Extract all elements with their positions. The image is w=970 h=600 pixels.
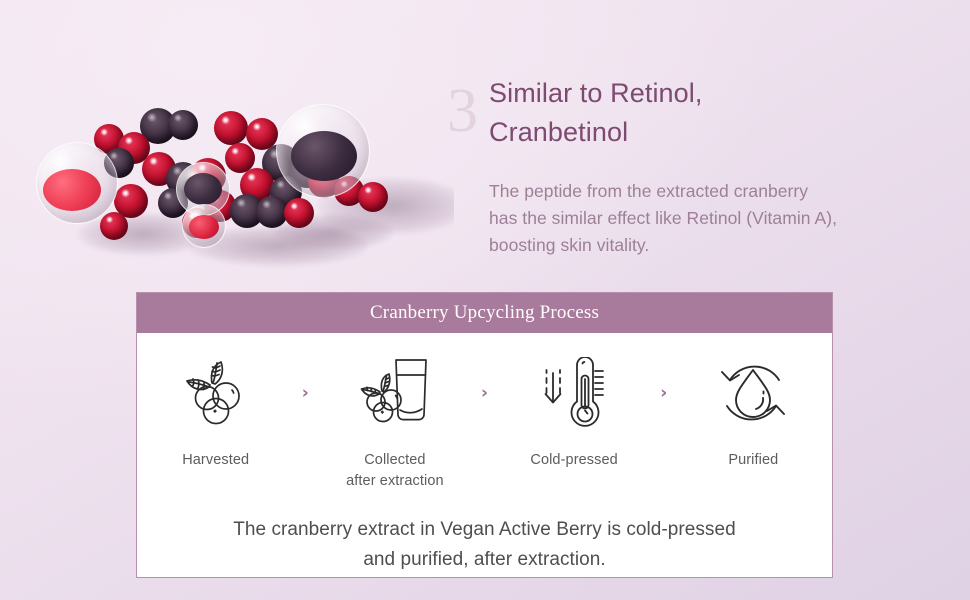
process-step-label: Collected after extraction: [346, 450, 444, 491]
glass-sphere: [36, 142, 118, 224]
process-steps: Harvested ›: [137, 333, 832, 491]
label-line-1: Purified: [728, 450, 778, 471]
glass-fill-dark: [184, 173, 222, 205]
berry: [100, 212, 128, 240]
promo-banner: 3 Similar to Retinol, Cranbetinol The pe…: [0, 0, 970, 600]
hero-description: The peptide from the extracted cranberry…: [489, 178, 941, 259]
description-line-3: boosting skin vitality.: [489, 232, 941, 259]
glass-sphere: [182, 204, 226, 248]
berries-leaves-icon: [180, 355, 252, 431]
caption-line-1: The cranberry extract in Vegan Active Be…: [177, 515, 792, 544]
headline-line-2: Cranbetinol: [489, 113, 939, 152]
glass-sphere: [276, 104, 370, 198]
berry: [284, 198, 314, 228]
process-step-label: Purified: [728, 450, 778, 471]
glass-fill-red: [43, 169, 101, 211]
berries-glass-icon: [358, 355, 432, 431]
cranberry-photo: [18, 48, 454, 290]
berry: [214, 111, 248, 145]
label-line-2: after extraction: [346, 471, 444, 492]
description-line-1: The peptide from the extracted cranberry: [489, 178, 941, 205]
process-card-caption: The cranberry extract in Vegan Active Be…: [137, 515, 832, 574]
process-step-harvested: Harvested: [147, 355, 284, 471]
process-card-title: Cranberry Upcycling Process: [370, 302, 599, 324]
chevron-right-icon: ›: [284, 355, 326, 431]
chevron-right-icon: ›: [643, 355, 685, 431]
process-step-purified: Purified: [685, 355, 822, 471]
process-step-label: Cold-pressed: [530, 450, 617, 471]
berry: [168, 110, 198, 140]
label-line-1: Cold-pressed: [530, 450, 617, 471]
berry: [358, 182, 388, 212]
headline-line-1: Similar to Retinol,: [489, 74, 939, 113]
thermometer-down-arrow-icon: [539, 355, 609, 431]
droplet-recycle-icon: [716, 355, 790, 431]
caption-line-2: and purified, after extraction.: [177, 545, 792, 574]
page-title: Similar to Retinol, Cranbetinol: [489, 74, 939, 152]
process-step-collected: Collected after extraction: [326, 355, 463, 491]
process-card: Cranberry Upcycling Process: [136, 292, 833, 578]
label-line-1: Harvested: [182, 450, 249, 471]
glass-fill-red: [189, 215, 219, 239]
photo-stage: [18, 48, 454, 290]
step-number-watermark: 3: [447, 80, 478, 142]
process-step-cold-pressed: Cold-pressed: [505, 355, 642, 471]
glass-fill-dark: [291, 131, 357, 181]
chevron-right-icon: ›: [464, 355, 506, 431]
label-line-1: Collected: [346, 450, 444, 471]
process-card-header: Cranberry Upcycling Process: [137, 293, 832, 333]
process-step-label: Harvested: [182, 450, 249, 471]
description-line-2: has the similar effect like Retinol (Vit…: [489, 205, 941, 232]
